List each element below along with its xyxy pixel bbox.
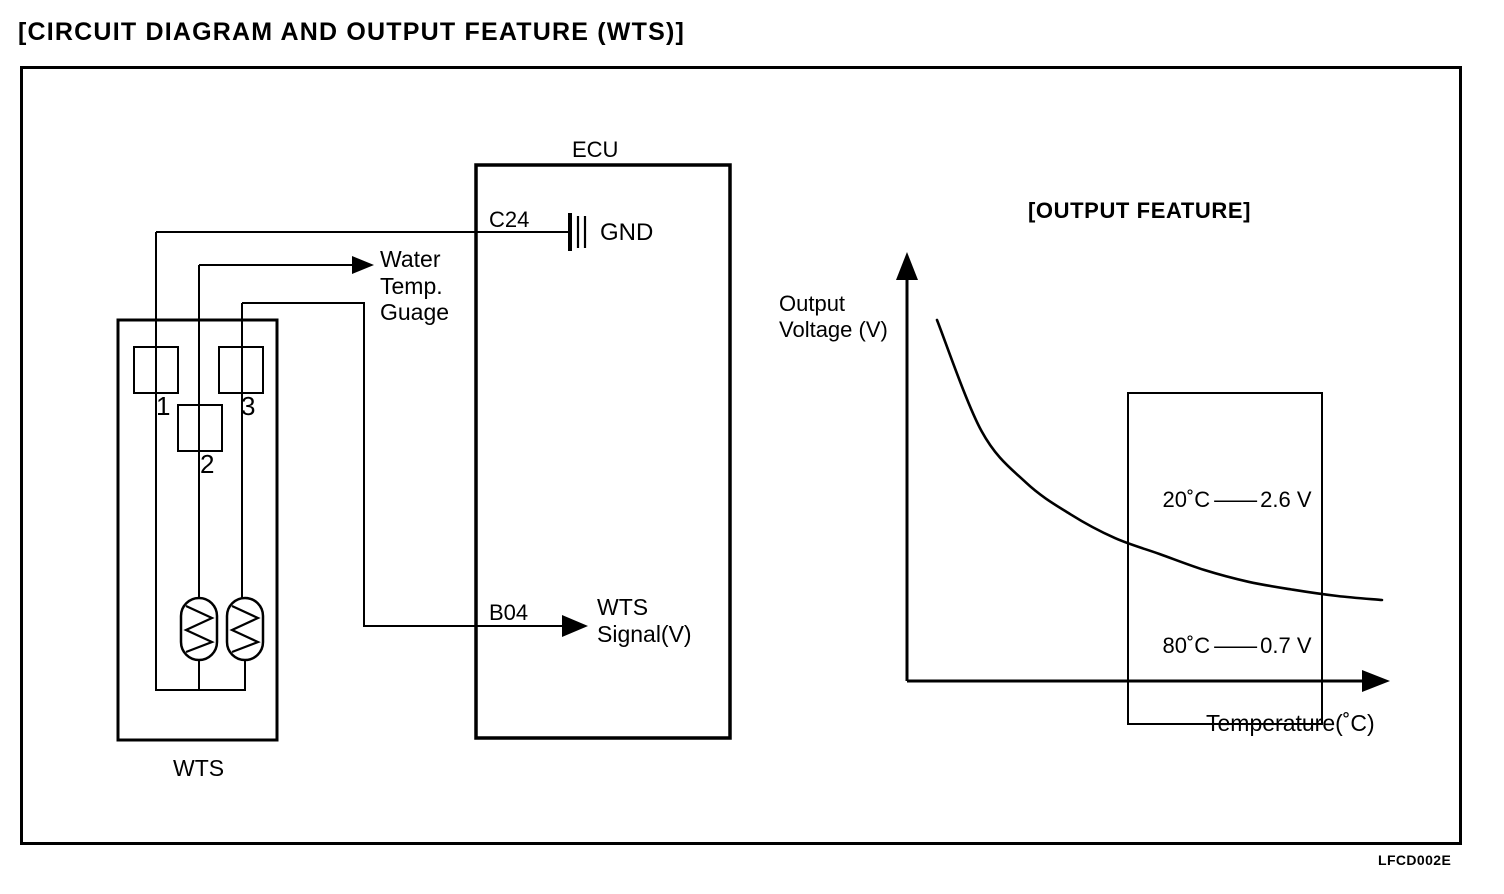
figure-code: LFCD002E	[1378, 852, 1451, 868]
annotation-80c-voltage: 0.7 V	[1260, 633, 1311, 658]
annotation-row-80c: 80˚C——0.7 V	[1138, 602, 1312, 690]
annotation-80c-temperature: 80˚C	[1162, 633, 1210, 658]
chart-annotation-box: 20˚C——2.6 V 80˚C——0.7 V	[1127, 392, 1323, 725]
annotation-20c-arrow: ——	[1210, 487, 1260, 512]
annotation-20c-voltage: 2.6 V	[1260, 487, 1311, 512]
annotation-20c-temperature: 20˚C	[1162, 487, 1210, 512]
x-axis-arrow-icon	[1362, 670, 1390, 692]
annotation-row-20c: 20˚C——2.6 V	[1138, 456, 1312, 544]
y-axis-arrow-icon	[896, 252, 918, 280]
annotation-80c-arrow: ——	[1210, 633, 1260, 658]
